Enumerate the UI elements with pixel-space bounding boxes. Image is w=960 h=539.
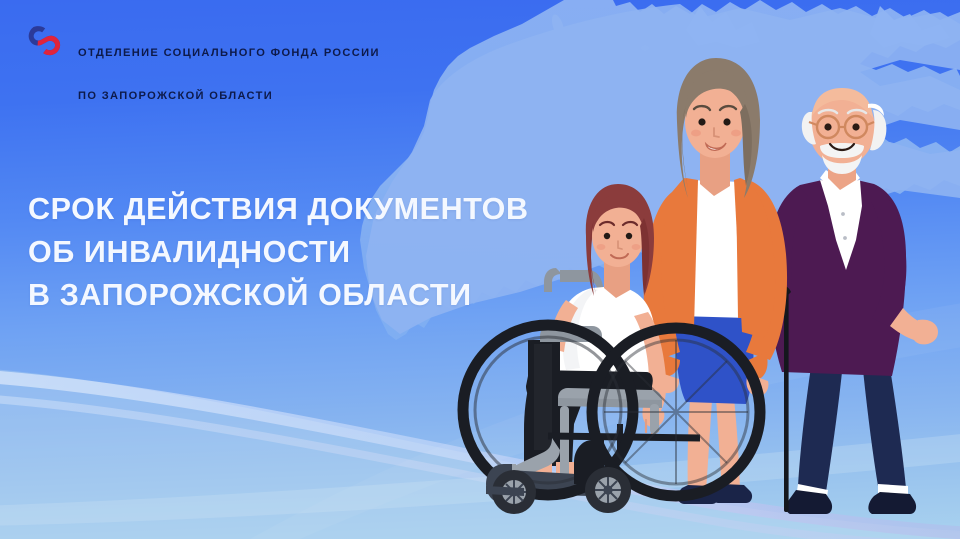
page-title-line2: ОБ ИНВАЛИДНОСТИ: [28, 231, 529, 274]
organization-name-line1: ОТДЕЛЕНИЕ СОЦИАЛЬНОГО ФОНДА РОССИИ: [78, 46, 380, 60]
elderly-man-with-cane: [768, 88, 938, 514]
page-title: СРОК ДЕЙСТВИЯ ДОКУМЕНТОВ ОБ ИНВАЛИДНОСТИ…: [28, 188, 529, 317]
social-fund-russia-logo-icon: [26, 20, 67, 56]
page-title-line3: В ЗАПОРОЖСКОЙ ОБЛАСТИ: [28, 274, 529, 317]
organization-name: ОТДЕЛЕНИЕ СОЦИАЛЬНОГО ФОНДА РОССИИ ПО ЗА…: [78, 18, 380, 132]
page-title-line1: СРОК ДЕЙСТВИЯ ДОКУМЕНТОВ: [28, 188, 529, 231]
organization-name-line2: ПО ЗАПОРОЖСКОЙ ОБЛАСТИ: [78, 89, 380, 103]
organization-header: ОТДЕЛЕНИЕ СОЦИАЛЬНОГО ФОНДА РОССИИ ПО ЗА…: [26, 18, 380, 132]
banner-canvas: ОТДЕЛЕНИЕ СОЦИАЛЬНОГО ФОНДА РОССИИ ПО ЗА…: [0, 0, 960, 539]
